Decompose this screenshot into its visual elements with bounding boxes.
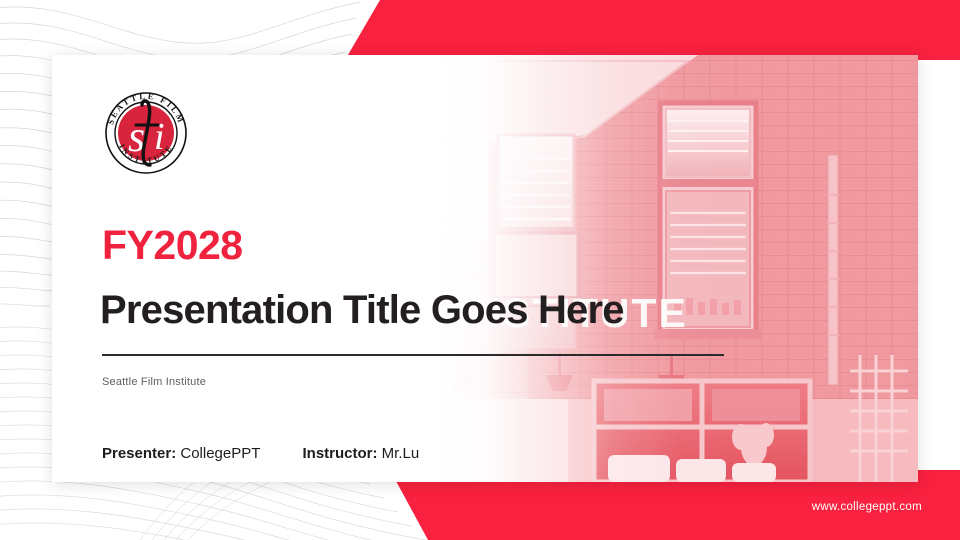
fiscal-year-label: FY2028 <box>102 222 243 269</box>
credits-line: Presenter: CollegePPT Instructor: Mr.Lu <box>102 445 419 462</box>
presentation-slide: INSTITUTE SEATTLE FILM INSTITUTE <box>0 0 960 540</box>
footer-website-url[interactable]: www.collegeppt.com <box>812 501 922 513</box>
svg-text:i: i <box>154 116 165 158</box>
title-divider <box>102 354 724 356</box>
presenter-value: CollegePPT <box>180 445 260 462</box>
institution-subtitle: Seattle Film Institute <box>102 376 206 388</box>
presenter-label: Presenter: <box>102 445 176 462</box>
seattle-film-institute-logo: SEATTLE FILM INSTITUTE s i <box>98 85 194 181</box>
building-facade-photo: INSTITUTE <box>398 55 918 482</box>
instructor-label: Instructor: <box>303 445 378 462</box>
page-title: Presentation Title Goes Here <box>100 288 624 333</box>
slide-content-card: INSTITUTE SEATTLE FILM INSTITUTE <box>52 55 918 482</box>
instructor-value: Mr.Lu <box>382 445 420 462</box>
